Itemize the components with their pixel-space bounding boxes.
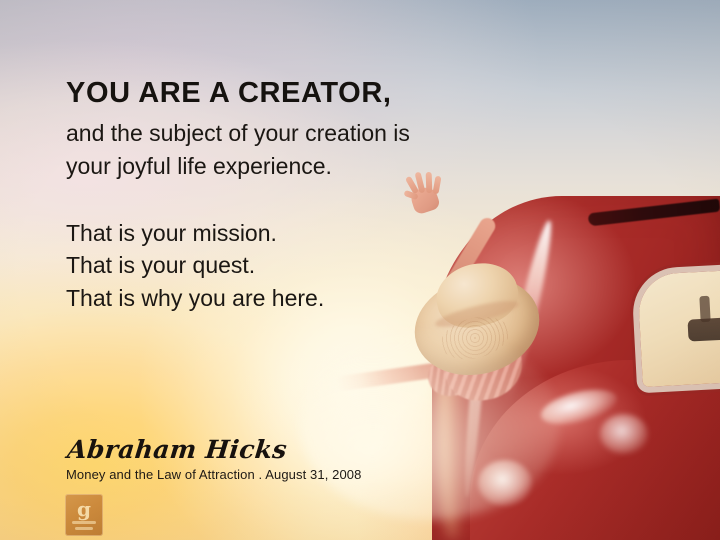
quote-headline: YOU ARE A CREATOR,: [66, 78, 486, 109]
quote-line-5: That is why you are here.: [66, 282, 486, 315]
quote-line-4: That is your quest.: [66, 249, 486, 282]
abraham-hicks-logo-badge: g: [65, 494, 103, 536]
quote-line-3: That is your mission.: [66, 217, 486, 250]
quote-text-block: YOU ARE A CREATOR, and the subject of yo…: [66, 78, 486, 315]
figure-light-bloom: [300, 330, 560, 520]
logo-glyph: g: [65, 499, 103, 519]
quote-line-2: your joyful life experience.: [66, 150, 486, 183]
logo-bar: [75, 527, 93, 530]
stanza-spacer: [66, 183, 486, 217]
quote-poster: YOU ARE A CREATOR, and the subject of yo…: [0, 0, 720, 540]
quote-line-1: and the subject of your creation is: [66, 117, 486, 150]
source-citation: Money and the Law of Attraction . August…: [66, 467, 466, 482]
attribution-block: Abraham Hicks Money and the Law of Attra…: [66, 437, 466, 482]
logo-bar: [72, 521, 96, 524]
author-signature: Abraham Hicks: [66, 437, 469, 463]
